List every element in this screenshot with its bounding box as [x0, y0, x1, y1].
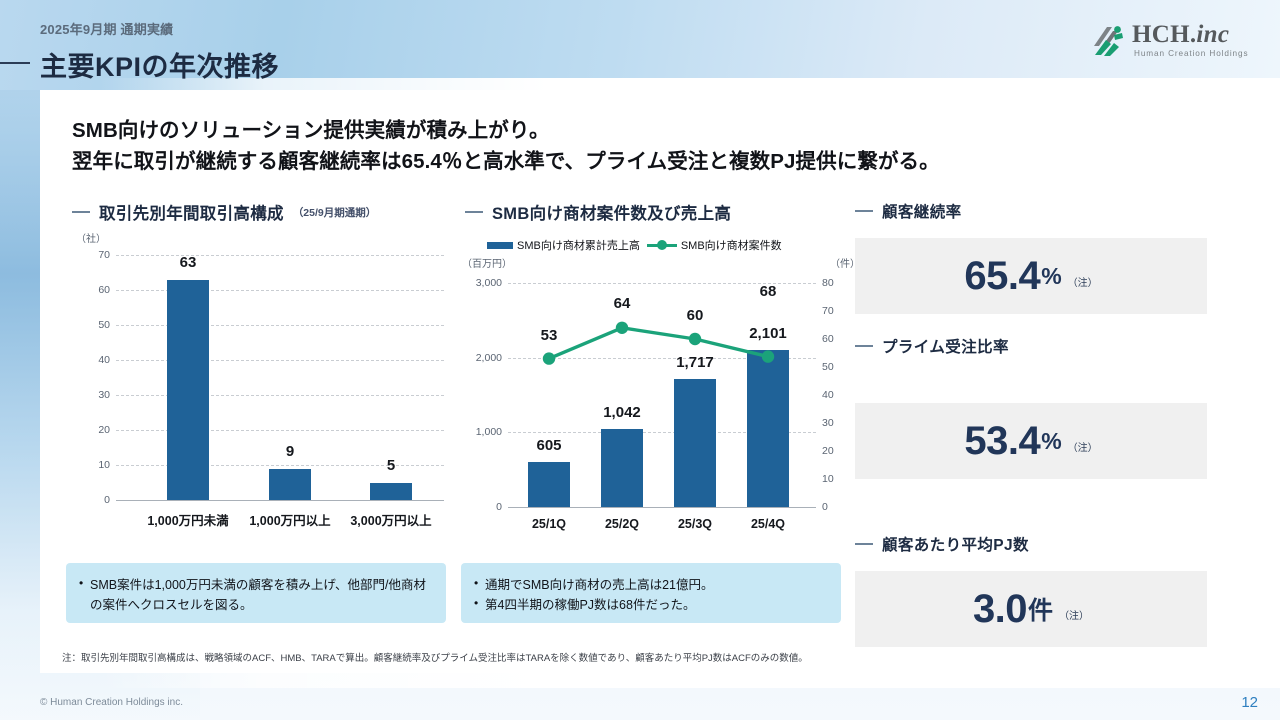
bar-category-0[interactable] [167, 280, 209, 501]
bar-category-2[interactable] [370, 483, 412, 501]
logo-wordmark: HCH.inc [1132, 21, 1229, 49]
mid-chart: （百万円） （件） 3,000 2,000 1,000 0 80 70 60 5… [460, 255, 860, 555]
kpi-heading-1: プライム受注比率 [855, 335, 1009, 357]
company-logo: HCH.inc Human Creation Holdings [1092, 22, 1252, 62]
gridline [116, 360, 444, 361]
dash-icon [855, 543, 873, 545]
kpi-unit-2: 件 [1028, 591, 1053, 627]
lead-statement: SMB向けのソリューション提供実績が積み上がり。 翌年に取引が継続する顧客継続率… [72, 115, 1212, 177]
logo-wordmark-main: HCH. [1132, 21, 1196, 48]
y-tick: 20 [72, 424, 110, 436]
content-card: SMB向けのソリューション提供実績が積み上がり。 翌年に取引が継続する顧客継続率… [40, 90, 1240, 673]
dash-icon [72, 211, 90, 213]
x-category-label: 3,000万円以上 [321, 510, 461, 529]
line-value-label: 60 [655, 307, 735, 324]
kpi-value-1: 53.4 [964, 421, 1040, 461]
mid-chart-heading: SMB向け商材案件数及び売上高 [465, 200, 731, 224]
gridline [116, 430, 444, 431]
y-tick: 70 [72, 249, 110, 261]
gridline [116, 290, 444, 291]
kpi-box-1: 53.4 % （注） [855, 403, 1207, 479]
y-tick: 0 [72, 494, 110, 506]
x-category-label: 25/4Q [728, 517, 808, 531]
footer-bar [0, 686, 1280, 720]
left-chart: （社） 70 60 50 40 30 20 10 0 63 9 5 1,000万… [72, 230, 444, 550]
callout-bullet: SMB案件は1,000万円未満の顧客を積み上げ、他部門/他商材の案件へクロスセル… [79, 575, 432, 616]
dash-icon [855, 345, 873, 347]
kpi-heading-0: 顧客継続率 [855, 200, 962, 222]
gridline [116, 395, 444, 396]
legend-line-label: SMB向け商材案件数 [681, 237, 782, 253]
title-rule [0, 62, 30, 64]
lead-line-2: 翌年に取引が継続する顧客継続率は65.4％と高水準で、プライム受注と複数PJ提供… [72, 146, 1212, 177]
kpi-value-2: 3.0 [973, 589, 1027, 629]
line-point [762, 350, 774, 362]
kpi-heading-2: 顧客あたり平均PJ数 [855, 533, 1029, 555]
kpi-note-2: （注） [1059, 607, 1089, 622]
copyright-text: © Human Creation Holdings inc. [40, 697, 183, 708]
hch-logo-mark-icon [1092, 24, 1128, 58]
kpi-note-1: （注） [1068, 439, 1098, 454]
page-title: 主要KPIの年次推移 [40, 45, 279, 84]
y-tick: 40 [72, 354, 110, 366]
y-tick: 10 [72, 459, 110, 471]
callout-bullet: 第4四半期の稼働PJ数は68件だった。 [474, 595, 827, 615]
legend-bar-swatch-icon [487, 242, 513, 249]
x-category-label: 25/1Q [509, 517, 589, 531]
y-tick: 50 [72, 319, 110, 331]
y-tick: 60 [72, 284, 110, 296]
line-point [616, 322, 628, 334]
kpi-unit-1: % [1041, 428, 1061, 455]
mid-chart-legend: SMB向け商材累計売上高 SMB向け商材案件数 [487, 237, 782, 253]
logo-tagline: Human Creation Holdings [1134, 49, 1248, 58]
line-value-label: 68 [728, 283, 808, 300]
kpi-box-0: 65.4 % （注） [855, 238, 1207, 314]
kpi-title-0: 顧客継続率 [882, 200, 962, 222]
bar-value-label: 5 [351, 457, 431, 474]
line-point [689, 333, 701, 345]
mid-callout-box: 通期でSMB向け商材の売上高は21億円。 第4四半期の稼働PJ数は68件だった。 [461, 563, 841, 623]
slide-header: 2025年9月期 通期実績 主要KPIの年次推移 HCH.inc Human C… [0, 0, 1280, 82]
line-point [543, 352, 555, 364]
left-chart-title: 取引先別年間取引高構成 [99, 200, 284, 224]
kpi-title-1: プライム受注比率 [882, 335, 1009, 357]
lead-line-1: SMB向けのソリューション提供実績が積み上がり。 [72, 115, 1212, 146]
bar-category-1[interactable] [269, 469, 311, 501]
line-value-label: 53 [509, 327, 589, 344]
kpi-note-0: （注） [1068, 274, 1098, 289]
dash-icon [465, 211, 483, 213]
x-category-label: 25/2Q [582, 517, 662, 531]
left-chart-x-axis [116, 500, 444, 501]
callout-bullet: 通期でSMB向け商材の売上高は21億円。 [474, 575, 827, 595]
header-eyebrow: 2025年9月期 通期実績 [40, 19, 173, 38]
left-chart-subtitle: （25/9月期通期） [293, 205, 376, 220]
legend-line-swatch-icon [647, 244, 677, 247]
kpi-box-2: 3.0 件 （注） [855, 571, 1207, 647]
legend-item-bar: SMB向け商材累計売上高 [487, 237, 640, 253]
line-value-label: 64 [582, 295, 662, 312]
footnote: 注：取引先別年間取引高構成は、戦略領域のACF、HMB、TARAで算出。顧客継続… [62, 650, 1222, 664]
x-category-label: 25/3Q [655, 517, 735, 531]
bar-value-label: 63 [148, 254, 228, 271]
kpi-unit-0: % [1041, 263, 1061, 290]
legend-bar-label: SMB向け商材累計売上高 [517, 237, 640, 253]
legend-item-line: SMB向け商材案件数 [647, 237, 782, 253]
left-callout-box: SMB案件は1,000万円未満の顧客を積み上げ、他部門/他商材の案件へクロスセル… [66, 563, 446, 623]
page-number: 12 [1241, 694, 1258, 711]
y-tick: 30 [72, 389, 110, 401]
bar-value-label: 9 [250, 443, 330, 460]
left-chart-heading: 取引先別年間取引高構成 （25/9月期通期） [72, 200, 376, 224]
logo-wordmark-italic: inc [1196, 21, 1229, 48]
kpi-title-2: 顧客あたり平均PJ数 [882, 533, 1029, 555]
mid-chart-title: SMB向け商材案件数及び売上高 [492, 200, 731, 224]
left-chart-y-unit: （社） [76, 230, 106, 245]
dash-icon [855, 210, 873, 212]
gridline [116, 325, 444, 326]
kpi-value-0: 65.4 [964, 256, 1040, 296]
